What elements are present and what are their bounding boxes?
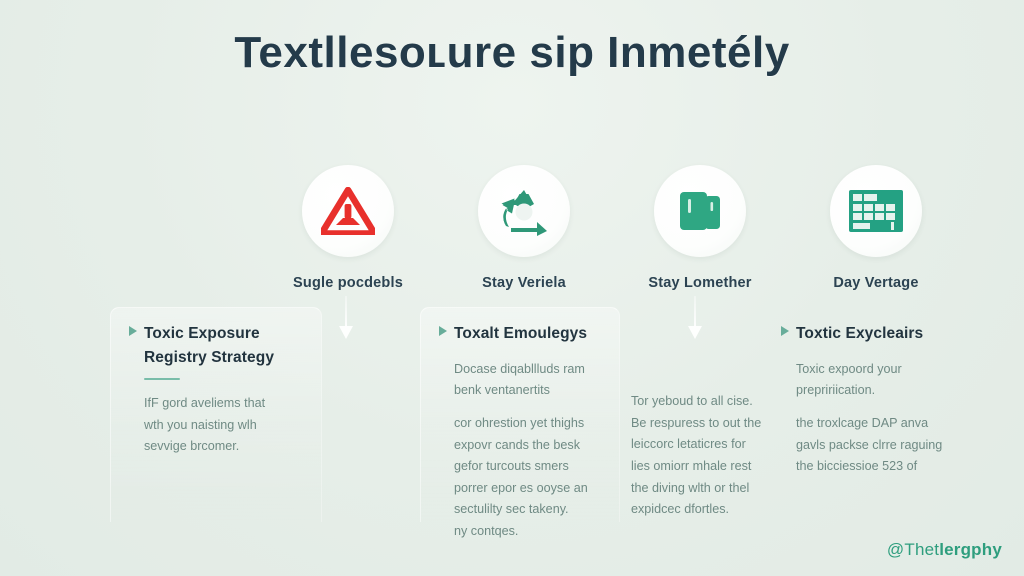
step-icon-circle-1 (302, 165, 394, 257)
step-item-2[interactable]: Stay Veriela (436, 165, 612, 291)
step-label-4: Day Vertage (788, 275, 964, 291)
card-heading-row-1: Toxic Exposure Registry Strategy (129, 322, 303, 369)
content-card-2[interactable]: Toxalt Emoulegys Docase diqabllluds ram … (420, 307, 620, 522)
step-label-2: Stay Veriela (436, 275, 612, 291)
card-body-3: Tor yeboud to all cise. Be respuress to … (631, 391, 783, 521)
card-body-4: Toxic expoord your prepririication. (796, 359, 955, 402)
triangle-bullet-icon (129, 326, 137, 336)
card-body-2: Docase diqabllluds ram benk ventanertits (454, 359, 601, 402)
card-body-2-secondary: cor ohrestion yet thighs expovr cands th… (454, 413, 601, 543)
step-icon-circle-3 (654, 165, 746, 257)
watermark-prefix: @Thet (887, 540, 939, 559)
card-title-4: Toxtic Exycleairs (796, 322, 923, 346)
page-title: Textllesoʟure sip Inmetély (0, 28, 1024, 78)
step-icon-circle-2 (478, 165, 570, 257)
card-heading-row-4: Toxtic Exycleairs (781, 322, 955, 346)
watermark: @Thetlergphy (887, 540, 1002, 560)
card-body-4-secondary: the troxlcage DAP anva gavls packse clrr… (796, 413, 955, 478)
content-card-row: Toxic Exposure Registry Strategy IfF gor… (0, 307, 1024, 522)
watermark-suffix: lergphy (939, 540, 1002, 559)
card-title-2: Toxalt Emoulegys (454, 322, 587, 346)
card-body-1: IfF gord aveliems that wth you naisting … (144, 393, 303, 458)
card-heading-row-2: Toxalt Emoulegys (439, 322, 601, 346)
recycle-icon (497, 186, 551, 236)
warning-triangle-icon (321, 187, 375, 235)
documents-icon (675, 186, 725, 236)
content-card-4[interactable]: Toxtic Exycleairs Toxic expoord your pre… (762, 307, 974, 522)
step-label-1: Sugle pocdebls (260, 275, 436, 291)
step-item-1[interactable]: Sugle pocdebls (260, 165, 436, 291)
step-icon-row: Sugle pocdebls (260, 165, 972, 295)
card-divider-1 (144, 378, 180, 380)
triangle-bullet-icon (439, 326, 447, 336)
card-title-1: Toxic Exposure Registry Strategy (144, 322, 303, 369)
step-item-3[interactable]: Stay Lomether (612, 165, 788, 291)
step-label-3: Stay Lomether (612, 275, 788, 291)
calendar-grid-icon (848, 189, 904, 233)
content-card-1[interactable]: Toxic Exposure Registry Strategy IfF gor… (110, 307, 322, 522)
step-icon-circle-4 (830, 165, 922, 257)
infographic-canvas: Textllesoʟure sip Inmetély Sugle pocdebl… (0, 0, 1024, 576)
triangle-bullet-icon (781, 326, 789, 336)
step-item-4[interactable]: Day Vertage (788, 165, 964, 291)
